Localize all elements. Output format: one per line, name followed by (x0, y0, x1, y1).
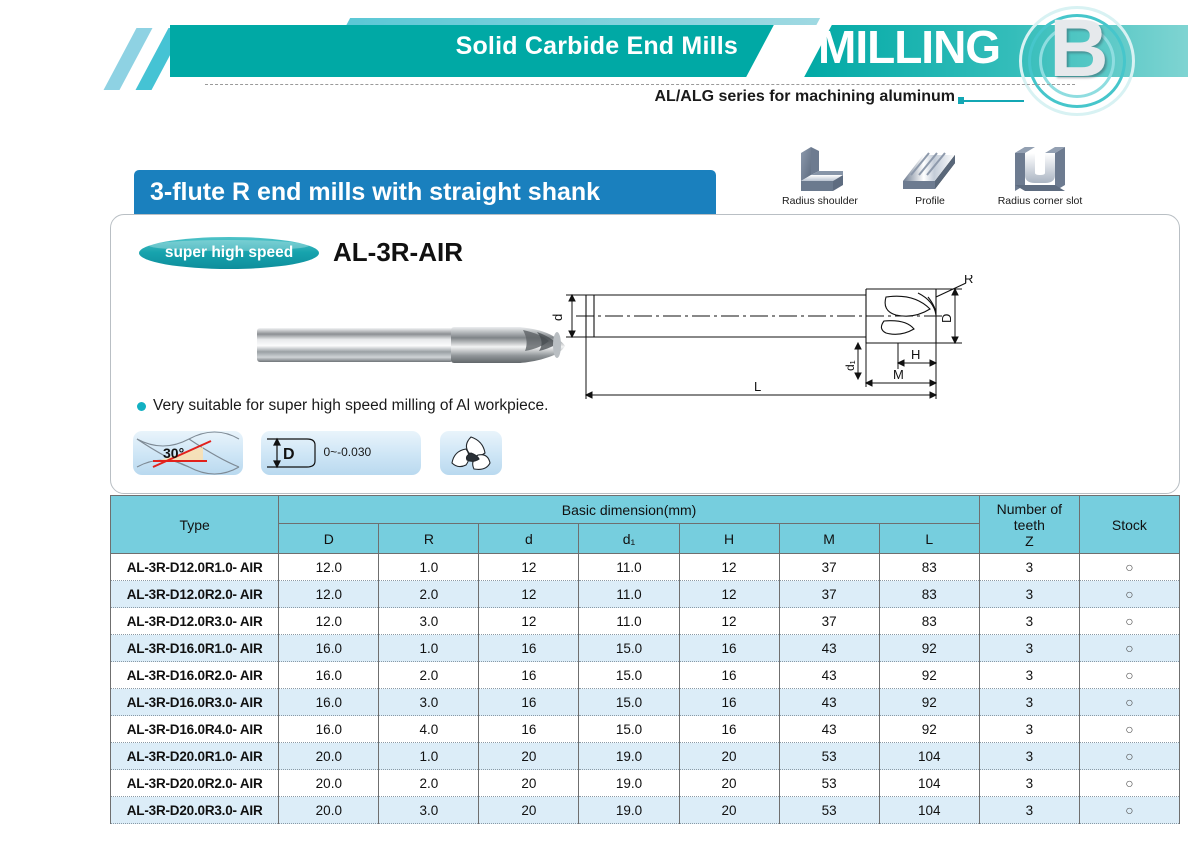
cell-M: 53 (779, 743, 879, 770)
cell-R: 1.0 (379, 743, 479, 770)
cell-L: 104 (879, 743, 979, 770)
cell-H: 12 (679, 608, 779, 635)
cell-L: 92 (879, 689, 979, 716)
radius-corner-slot-icon (985, 145, 1095, 193)
section-title: 3-flute R end mills with straight shank (134, 170, 716, 214)
tab-letter: B (1015, 8, 1143, 90)
cell-stock: ○ (1079, 743, 1179, 770)
table-header-row-1: Type Basic dimension(mm) Number of teeth… (111, 496, 1180, 524)
super-high-speed-badge: super high speed (139, 237, 319, 269)
cell-Z: 3 (979, 797, 1079, 824)
table-row[interactable]: AL-3R-D12.0R3.0- AIR12.03.01211.01237833… (111, 608, 1180, 635)
cell-D: 12.0 (279, 581, 379, 608)
cell-Z: 3 (979, 770, 1079, 797)
feature-text: Very suitable for super high speed milli… (153, 397, 548, 414)
cell-Z: 3 (979, 662, 1079, 689)
cell-type: AL-3R-D16.0R2.0- AIR (111, 662, 279, 689)
bullet-dot-icon (137, 402, 146, 411)
header-dim-H: H (679, 524, 779, 554)
cell-D: 16.0 (279, 716, 379, 743)
table-row[interactable]: AL-3R-D20.0R2.0- AIR20.02.02019.02053104… (111, 770, 1180, 797)
cell-stock: ○ (1079, 581, 1179, 608)
stock-circle-icon: ○ (1125, 613, 1133, 629)
header-number-of-teeth: Number of teeth Z (979, 496, 1079, 554)
header-dim-d1: d₁ (579, 524, 679, 554)
cell-Z: 3 (979, 554, 1079, 581)
header-dim-R: R (379, 524, 479, 554)
application-icon-label: Profile (875, 195, 985, 207)
cell-H: 16 (679, 716, 779, 743)
banner-milling-word: MILLING (818, 20, 1000, 74)
cell-M: 43 (779, 662, 879, 689)
cell-H: 20 (679, 770, 779, 797)
cell-D: 12.0 (279, 554, 379, 581)
header-dim-M: M (779, 524, 879, 554)
drawing-label-M: M (893, 367, 904, 382)
drawing-label-d1: d₁ (843, 360, 857, 371)
cell-stock: ○ (1079, 770, 1179, 797)
feature-icons: 30° D 0~-0.030 (133, 431, 516, 475)
cell-H: 12 (679, 554, 779, 581)
cell-d: 12 (479, 608, 579, 635)
cell-stock: ○ (1079, 716, 1179, 743)
cell-R: 1.0 (379, 554, 479, 581)
drawing-label-L: L (754, 379, 761, 394)
cell-d1: 11.0 (579, 581, 679, 608)
header-basic-dimension: Basic dimension(mm) (279, 496, 980, 524)
stock-circle-icon: ○ (1125, 748, 1133, 764)
drawing-label-R: R (964, 275, 973, 286)
cell-R: 2.0 (379, 770, 479, 797)
header-teeth-line3: Z (980, 533, 1079, 549)
stock-circle-icon: ○ (1125, 667, 1133, 683)
application-icon-label: Radius shoulder (765, 195, 875, 207)
cell-d: 16 (479, 635, 579, 662)
cell-R: 2.0 (379, 662, 479, 689)
drawing-label-d: d (550, 314, 565, 321)
cell-stock: ○ (1079, 608, 1179, 635)
cell-type: AL-3R-D12.0R1.0- AIR (111, 554, 279, 581)
table-row[interactable]: AL-3R-D20.0R1.0- AIR20.01.02019.02053104… (111, 743, 1180, 770)
cell-R: 3.0 (379, 689, 479, 716)
banner-title: Solid Carbide End Mills (0, 32, 760, 61)
cell-L: 83 (879, 608, 979, 635)
cell-L: 83 (879, 581, 979, 608)
three-flute-end-icon (440, 431, 502, 475)
cell-D: 16.0 (279, 689, 379, 716)
cell-H: 20 (679, 743, 779, 770)
cell-D: 20.0 (279, 743, 379, 770)
cell-M: 53 (779, 770, 879, 797)
cell-d1: 11.0 (579, 608, 679, 635)
cell-Z: 3 (979, 689, 1079, 716)
cell-type: AL-3R-D20.0R2.0- AIR (111, 770, 279, 797)
specification-table: Type Basic dimension(mm) Number of teeth… (110, 495, 1180, 824)
cell-M: 43 (779, 716, 879, 743)
technical-drawing: d D R d₁ (466, 275, 1046, 400)
cell-R: 1.0 (379, 635, 479, 662)
cell-D: 16.0 (279, 662, 379, 689)
model-name: AL-3R-AIR (333, 237, 463, 268)
drawing-label-D: D (939, 314, 954, 323)
cell-d: 16 (479, 662, 579, 689)
cell-d: 16 (479, 716, 579, 743)
cell-D: 20.0 (279, 770, 379, 797)
cell-type: AL-3R-D16.0R1.0- AIR (111, 635, 279, 662)
cell-L: 104 (879, 770, 979, 797)
feature-bullet: Very suitable for super high speed milli… (137, 397, 548, 415)
cell-R: 3.0 (379, 608, 479, 635)
table-head: Type Basic dimension(mm) Number of teeth… (111, 496, 1180, 554)
cell-Z: 3 (979, 608, 1079, 635)
cell-Z: 3 (979, 635, 1079, 662)
stock-circle-icon: ○ (1125, 775, 1133, 791)
header-dim-d: d (479, 524, 579, 554)
cell-d: 12 (479, 554, 579, 581)
cell-L: 92 (879, 716, 979, 743)
profile-icon (875, 145, 985, 193)
cell-stock: ○ (1079, 554, 1179, 581)
table-row[interactable]: AL-3R-D20.0R3.0- AIR20.03.02019.02053104… (111, 797, 1180, 824)
cell-type: AL-3R-D12.0R3.0- AIR (111, 608, 279, 635)
cell-M: 43 (779, 635, 879, 662)
header-dim-D: D (279, 524, 379, 554)
table-row[interactable]: AL-3R-D16.0R1.0- AIR16.01.01615.01643923… (111, 635, 1180, 662)
drawing-label-H: H (911, 347, 920, 362)
stock-circle-icon: ○ (1125, 586, 1133, 602)
table-row[interactable]: AL-3R-D16.0R2.0- AIR16.02.01615.01643923… (111, 662, 1180, 689)
banner-accent-stripe (346, 18, 820, 26)
table-body: AL-3R-D12.0R1.0- AIR12.01.01211.01237833… (111, 554, 1180, 824)
cell-L: 104 (879, 797, 979, 824)
header-subtitle: AL/ALG series for machining aluminum (0, 88, 1015, 106)
cell-R: 4.0 (379, 716, 479, 743)
cell-type: AL-3R-D20.0R3.0- AIR (111, 797, 279, 824)
application-icon-label: Radius corner slot (985, 195, 1095, 207)
application-icons: Radius shoulder Profile (765, 145, 1105, 225)
stock-circle-icon: ○ (1125, 802, 1133, 818)
cell-L: 92 (879, 662, 979, 689)
cell-d: 20 (479, 743, 579, 770)
subtitle-connector-line (962, 100, 1024, 102)
cell-stock: ○ (1079, 797, 1179, 824)
cell-type: AL-3R-D16.0R4.0- AIR (111, 716, 279, 743)
cell-d1: 19.0 (579, 770, 679, 797)
cell-d1: 19.0 (579, 743, 679, 770)
cell-stock: ○ (1079, 662, 1179, 689)
page-header: Solid Carbide End Mills MILLING B AL/ALG… (0, 0, 1188, 128)
cell-M: 37 (779, 554, 879, 581)
helix-angle-value: 30° (163, 445, 184, 461)
header-dim-L: L (879, 524, 979, 554)
cell-L: 92 (879, 635, 979, 662)
cell-d1: 11.0 (579, 554, 679, 581)
header-type: Type (111, 496, 279, 554)
cell-d: 20 (479, 770, 579, 797)
stock-circle-icon: ○ (1125, 559, 1133, 575)
tolerance-symbol: D (283, 446, 295, 463)
section-tab-b: B (1015, 2, 1143, 120)
radius-shoulder-icon (765, 145, 875, 193)
cell-D: 16.0 (279, 635, 379, 662)
cell-stock: ○ (1079, 635, 1179, 662)
cell-d1: 19.0 (579, 797, 679, 824)
header-teeth-line2: teeth (980, 517, 1079, 533)
cell-Z: 3 (979, 716, 1079, 743)
table-row[interactable]: AL-3R-D12.0R2.0- AIR12.02.01211.01237833… (111, 581, 1180, 608)
cell-type: AL-3R-D12.0R2.0- AIR (111, 581, 279, 608)
table-row[interactable]: AL-3R-D12.0R1.0- AIR12.01.01211.01237833… (111, 554, 1180, 581)
cell-D: 20.0 (279, 797, 379, 824)
cell-stock: ○ (1079, 689, 1179, 716)
stock-circle-icon: ○ (1125, 721, 1133, 737)
cell-H: 16 (679, 635, 779, 662)
cell-L: 83 (879, 554, 979, 581)
tolerance-value: 0~-0.030 (323, 445, 371, 459)
header-teeth-line1: Number of (980, 501, 1079, 517)
header-stock: Stock (1079, 496, 1179, 554)
cell-Z: 3 (979, 743, 1079, 770)
cell-H: 12 (679, 581, 779, 608)
cell-D: 12.0 (279, 608, 379, 635)
cell-d1: 15.0 (579, 635, 679, 662)
cell-R: 3.0 (379, 797, 479, 824)
application-icon-radius-shoulder: Radius shoulder (765, 145, 875, 207)
cell-d: 12 (479, 581, 579, 608)
product-card: super high speed AL-3R-AIR (110, 214, 1180, 494)
cell-R: 2.0 (379, 581, 479, 608)
table-row[interactable]: AL-3R-D16.0R3.0- AIR16.03.01615.01643923… (111, 689, 1180, 716)
cell-d1: 15.0 (579, 716, 679, 743)
cell-d: 20 (479, 797, 579, 824)
cell-d: 16 (479, 689, 579, 716)
cell-d1: 15.0 (579, 662, 679, 689)
cell-type: AL-3R-D16.0R3.0- AIR (111, 689, 279, 716)
helix-angle-icon: 30° (133, 431, 243, 475)
header-dashed-divider (205, 84, 1075, 85)
application-icon-profile: Profile (875, 145, 985, 207)
stock-circle-icon: ○ (1125, 694, 1133, 710)
stock-circle-icon: ○ (1125, 640, 1133, 656)
cell-H: 16 (679, 689, 779, 716)
cell-M: 37 (779, 608, 879, 635)
cell-M: 43 (779, 689, 879, 716)
cell-Z: 3 (979, 581, 1079, 608)
cell-H: 16 (679, 662, 779, 689)
diameter-tolerance-icon: D 0~-0.030 (261, 431, 421, 475)
cell-d1: 15.0 (579, 689, 679, 716)
cell-H: 20 (679, 797, 779, 824)
cell-M: 53 (779, 797, 879, 824)
application-icon-radius-corner-slot: Radius corner slot (985, 145, 1095, 207)
table-row[interactable]: AL-3R-D16.0R4.0- AIR16.04.01615.01643923… (111, 716, 1180, 743)
cell-M: 37 (779, 581, 879, 608)
cell-type: AL-3R-D20.0R1.0- AIR (111, 743, 279, 770)
